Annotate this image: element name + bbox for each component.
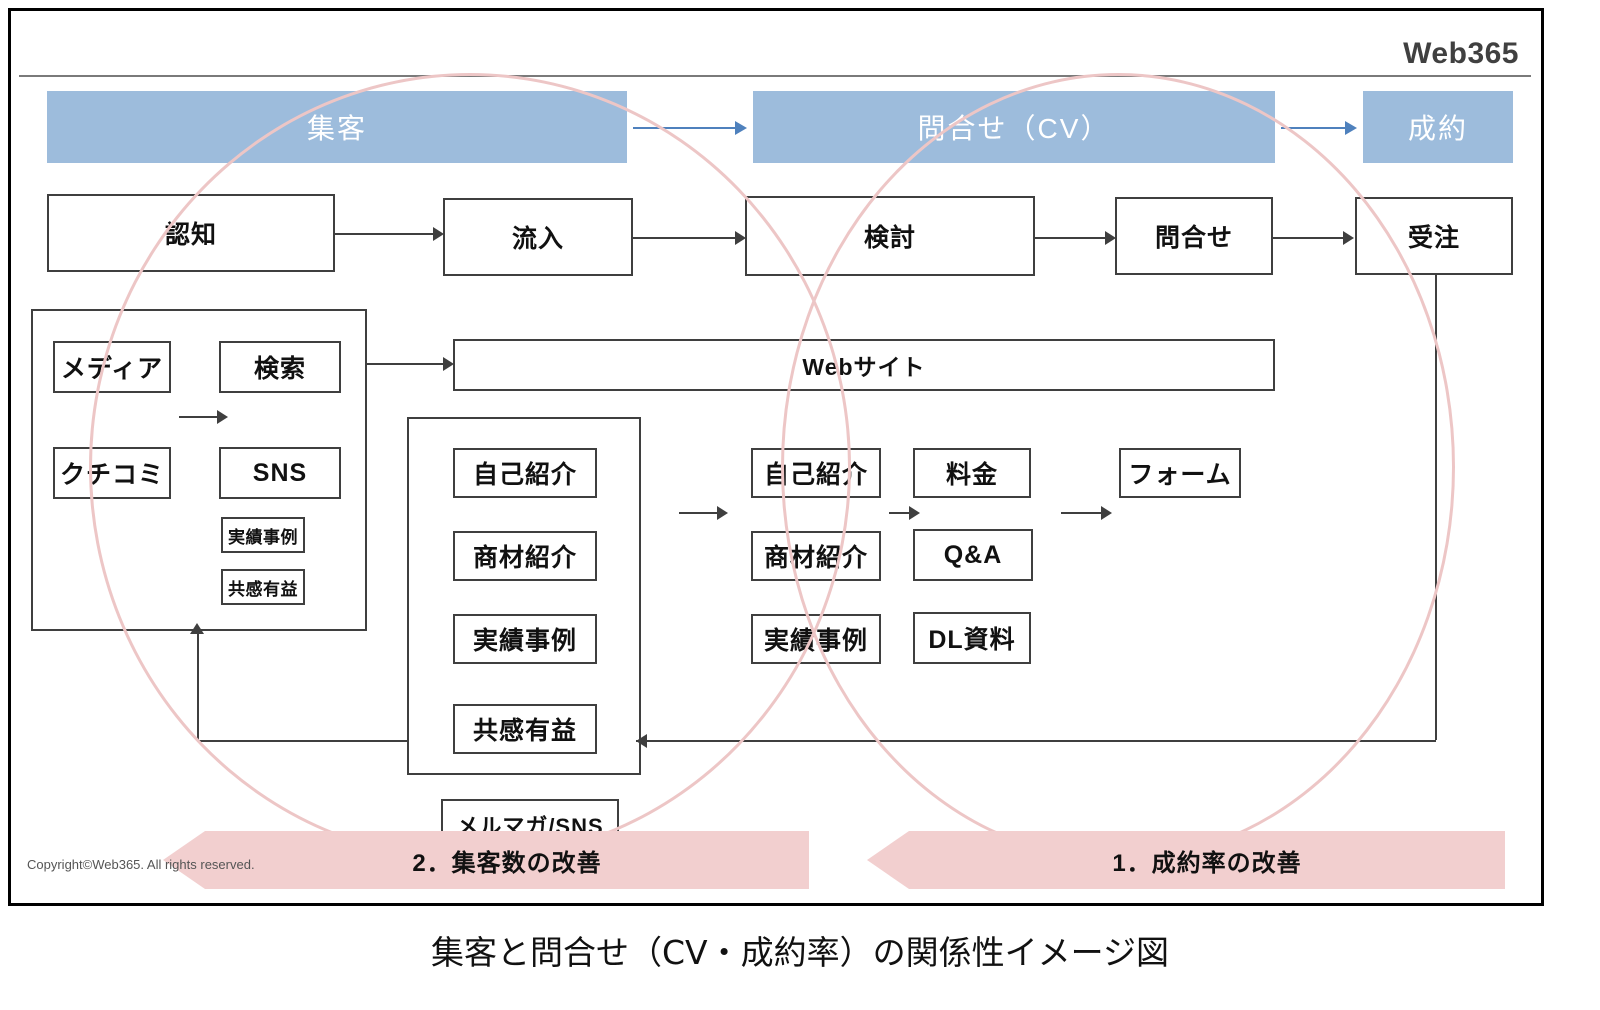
channel-box-wom: クチコミ: [53, 447, 171, 499]
pages-to-form-arrow-icon: [1101, 506, 1112, 520]
band-connector-1-arrow-icon: [735, 121, 747, 135]
content-label-case-study: 実績事例: [473, 621, 577, 657]
stage-label-inquiry: 問合せ: [1155, 218, 1233, 254]
content-box-empathy: 共感有益: [453, 704, 597, 754]
channel-box-case-study: 実績事例: [221, 517, 305, 553]
form-box: フォーム: [1119, 448, 1241, 498]
pages-col1-to-col2-line: [889, 512, 911, 514]
channel-box-media: メディア: [53, 341, 171, 393]
content-to-pages-arrow-icon: [717, 506, 728, 520]
content-label-product-intro: 商材紹介: [473, 538, 577, 574]
banner-conversion-head-icon: [867, 831, 909, 889]
order-feedback-horizontal: [636, 740, 1436, 742]
page-box-pricing: 料金: [913, 448, 1031, 498]
stage-box-inquiry: 問合せ: [1115, 197, 1273, 275]
slide-frame: Web365 集客 問合せ（CV） 成約 認知 流入 検討: [8, 8, 1544, 906]
page-label-product-intro: 商材紹介: [764, 538, 868, 574]
venn-circle-conversion: [781, 73, 1455, 861]
content-label-empathy: 共感有益: [473, 711, 577, 747]
stage-link-2: [633, 237, 737, 239]
form-label: フォーム: [1128, 455, 1231, 491]
banner-conversion: 1．成約率の改善: [909, 831, 1505, 889]
page-box-product-intro: 商材紹介: [751, 531, 881, 581]
stage-label-inflow: 流入: [512, 219, 564, 255]
pages-to-form-line: [1061, 512, 1103, 514]
page-label-qa: Q&A: [944, 541, 1003, 570]
stage-box-consideration: 検討: [745, 196, 1035, 276]
channel-box-search: 検索: [219, 341, 341, 393]
band-connector-2: [1281, 127, 1347, 129]
stage-label-order: 受注: [1408, 218, 1460, 254]
website-label: Webサイト: [802, 348, 925, 382]
channel-label-media: メディア: [61, 349, 163, 385]
stage-link-4-arrow-icon: [1343, 231, 1354, 245]
channel-label-wom: クチコミ: [60, 455, 164, 491]
band-inquiry: 問合せ（CV）: [753, 91, 1275, 163]
figure-caption: 集客と問合せ（CV・成約率）の関係性イメージ図: [0, 926, 1600, 974]
page-box-case-study: 実績事例: [751, 614, 881, 664]
diagram-canvas: Web365 集客 問合せ（CV） 成約 認知 流入 検討: [11, 11, 1541, 903]
band-acquisition-label: 集客: [307, 107, 367, 147]
channel-label-search: 検索: [254, 349, 306, 385]
band-connector-1: [633, 127, 737, 129]
page-box-dl: DL資料: [913, 612, 1031, 664]
channel-inner-arrow-icon: [217, 410, 228, 424]
order-feedback-vertical: [1435, 275, 1437, 740]
stage-link-1: [335, 233, 435, 235]
band-acquisition: 集客: [47, 91, 627, 163]
stage-link-4: [1273, 237, 1345, 239]
banner-acquisition: 2．集客数の改善: [205, 831, 809, 889]
website-bar: Webサイト: [453, 339, 1275, 391]
channel-label-empathy: 共感有益: [228, 575, 298, 600]
channel-label-sns: SNS: [253, 459, 307, 488]
banner-acquisition-label: 2．集客数の改善: [412, 843, 601, 878]
page-box-self-intro: 自己紹介: [751, 448, 881, 498]
channel-box-sns: SNS: [219, 447, 341, 499]
page-box-qa: Q&A: [913, 529, 1033, 581]
nurture-feedback-vertical: [197, 631, 199, 741]
content-label-self-intro: 自己紹介: [473, 455, 577, 491]
stage-label-awareness: 認知: [165, 215, 217, 251]
content-box-product-intro: 商材紹介: [453, 531, 597, 581]
channel-label-case-study: 実績事例: [228, 523, 298, 548]
stage-box-inflow: 流入: [443, 198, 633, 276]
stage-link-3: [1035, 237, 1107, 239]
page-label-pricing: 料金: [946, 455, 998, 491]
page-label-case-study: 実績事例: [764, 621, 868, 657]
page-label-self-intro: 自己紹介: [764, 455, 868, 491]
brand-logo: Web365: [1403, 37, 1519, 71]
content-box-self-intro: 自己紹介: [453, 448, 597, 498]
band-contract: 成約: [1363, 91, 1513, 163]
content-to-pages-line: [679, 512, 719, 514]
copyright-text: Copyright©Web365. All rights reserved.: [27, 857, 255, 872]
banner-conversion-label: 1．成約率の改善: [1112, 843, 1301, 878]
stage-box-order: 受注: [1355, 197, 1513, 275]
nurture-feedback-arrow-icon: [190, 623, 204, 634]
content-box-case-study: 実績事例: [453, 614, 597, 664]
channel-box-empathy: 共感有益: [221, 569, 305, 605]
band-inquiry-label: 問合せ（CV）: [918, 107, 1111, 147]
pages-col1-to-col2-arrow-icon: [909, 506, 920, 520]
stage-label-consideration: 検討: [864, 218, 916, 254]
page-label-dl: DL資料: [928, 620, 1015, 656]
header-divider: [19, 75, 1531, 77]
nurture-feedback-horizontal: [197, 740, 407, 742]
band-connector-2-arrow-icon: [1345, 121, 1357, 135]
search-to-website-line: [367, 363, 445, 365]
channel-inner-arrow-line: [179, 416, 219, 418]
band-contract-label: 成約: [1408, 107, 1468, 147]
stage-box-awareness: 認知: [47, 194, 335, 272]
